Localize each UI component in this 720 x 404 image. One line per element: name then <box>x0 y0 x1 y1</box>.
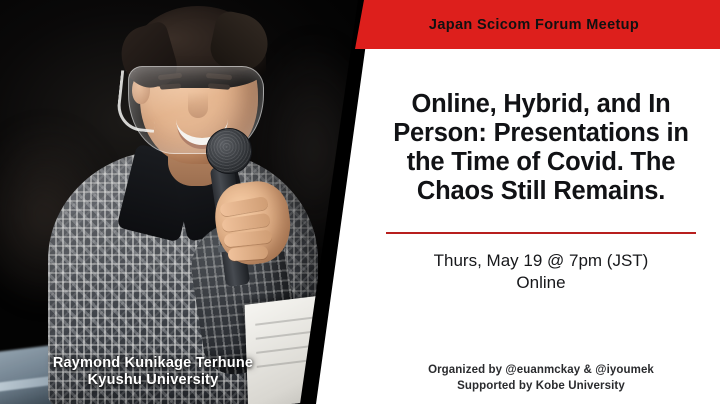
credits: Organized by @euanmckay & @iyoumek Suppo… <box>386 363 696 400</box>
speaker-name: Raymond Kunikage Terhune <box>18 355 288 373</box>
finger <box>228 246 269 262</box>
talk-schedule: Thurs, May 19 @ 7pm (JST) Online <box>386 234 696 294</box>
speaker-affiliation: Kyushu University <box>18 372 288 390</box>
speaker-lower-third: Raymond Kunikage Terhune Kyushu Universi… <box>18 355 288 390</box>
event-promo-slide: Raymond Kunikage Terhune Kyushu Universi… <box>0 0 720 404</box>
credits-supported: Supported by Kobe University <box>386 379 696 394</box>
credits-organized: Organized by @euanmckay & @iyoumek <box>386 363 696 378</box>
talk-title: Online, Hybrid, and In Person: Presentat… <box>386 52 696 206</box>
event-banner: Japan Scicom Forum Meetup <box>306 0 720 49</box>
talk-datetime: Thurs, May 19 @ 7pm (JST) <box>386 250 696 272</box>
talk-format: Online <box>386 272 696 294</box>
banner-title: Japan Scicom Forum Meetup <box>387 17 639 33</box>
face-shield-strap <box>115 70 160 133</box>
info-content: Online, Hybrid, and In Person: Presentat… <box>386 52 696 400</box>
